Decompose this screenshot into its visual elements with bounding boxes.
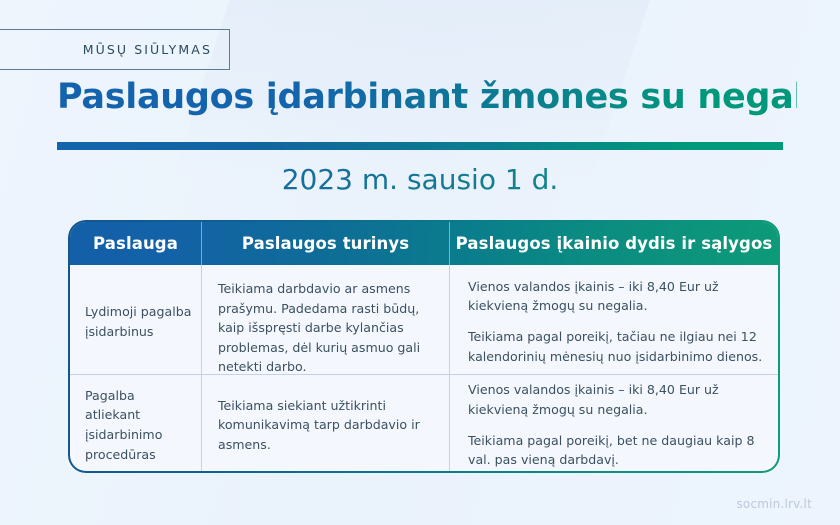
eyebrow-label: MŪSŲ SIŪLYMAS — [83, 42, 212, 57]
table-row: Pagalba atliekant įsidarbinimo procedūra… — [70, 375, 778, 471]
table-row: Lydimoji pagalba įsidarbinus Teikiama da… — [70, 265, 778, 375]
page-subtitle: 2023 m. sausio 1 d. — [0, 163, 840, 196]
page-title: Paslaugos įdarbinant žmones su negalia — [57, 78, 797, 117]
eyebrow-badge: MŪSŲ SIŪLYMAS — [0, 29, 230, 70]
title-underline-bar — [57, 142, 783, 150]
cell-service: Pagalba atliekant įsidarbinimo procedūra… — [70, 375, 202, 471]
condition-line: Teikiama pagal poreikį, bet ne daugiau k… — [468, 431, 764, 470]
cell-content: Teikiama siekiant užtikrinti komunikavim… — [202, 375, 450, 471]
title-underline — [57, 142, 783, 150]
services-table: Paslauga Paslaugos turinys Paslaugos įka… — [68, 220, 780, 473]
cell-conditions: Vienos valandos įkainis – iki 8,40 Eur u… — [450, 265, 778, 375]
column-header-conditions: Paslaugos įkainio dydis ir sąlygos — [450, 222, 778, 265]
table-header-row: Paslauga Paslaugos turinys Paslaugos įka… — [70, 222, 778, 265]
condition-line: Teikiama pagal poreikį, tačiau ne ilgiau… — [468, 327, 764, 366]
condition-line: Vienos valandos įkainis – iki 8,40 Eur u… — [468, 380, 764, 419]
column-header-content: Paslaugos turinys — [202, 222, 450, 265]
cell-service: Lydimoji pagalba įsidarbinus — [70, 265, 202, 375]
cell-content: Teikiama darbdavio ar asmens prašymu. Pa… — [202, 265, 450, 375]
cell-conditions: Vienos valandos įkainis – iki 8,40 Eur u… — [450, 375, 778, 471]
condition-line: Vienos valandos įkainis – iki 8,40 Eur u… — [468, 277, 764, 316]
column-header-service: Paslauga — [70, 222, 202, 265]
footer-url: socmin.lrv.lt — [736, 497, 812, 511]
